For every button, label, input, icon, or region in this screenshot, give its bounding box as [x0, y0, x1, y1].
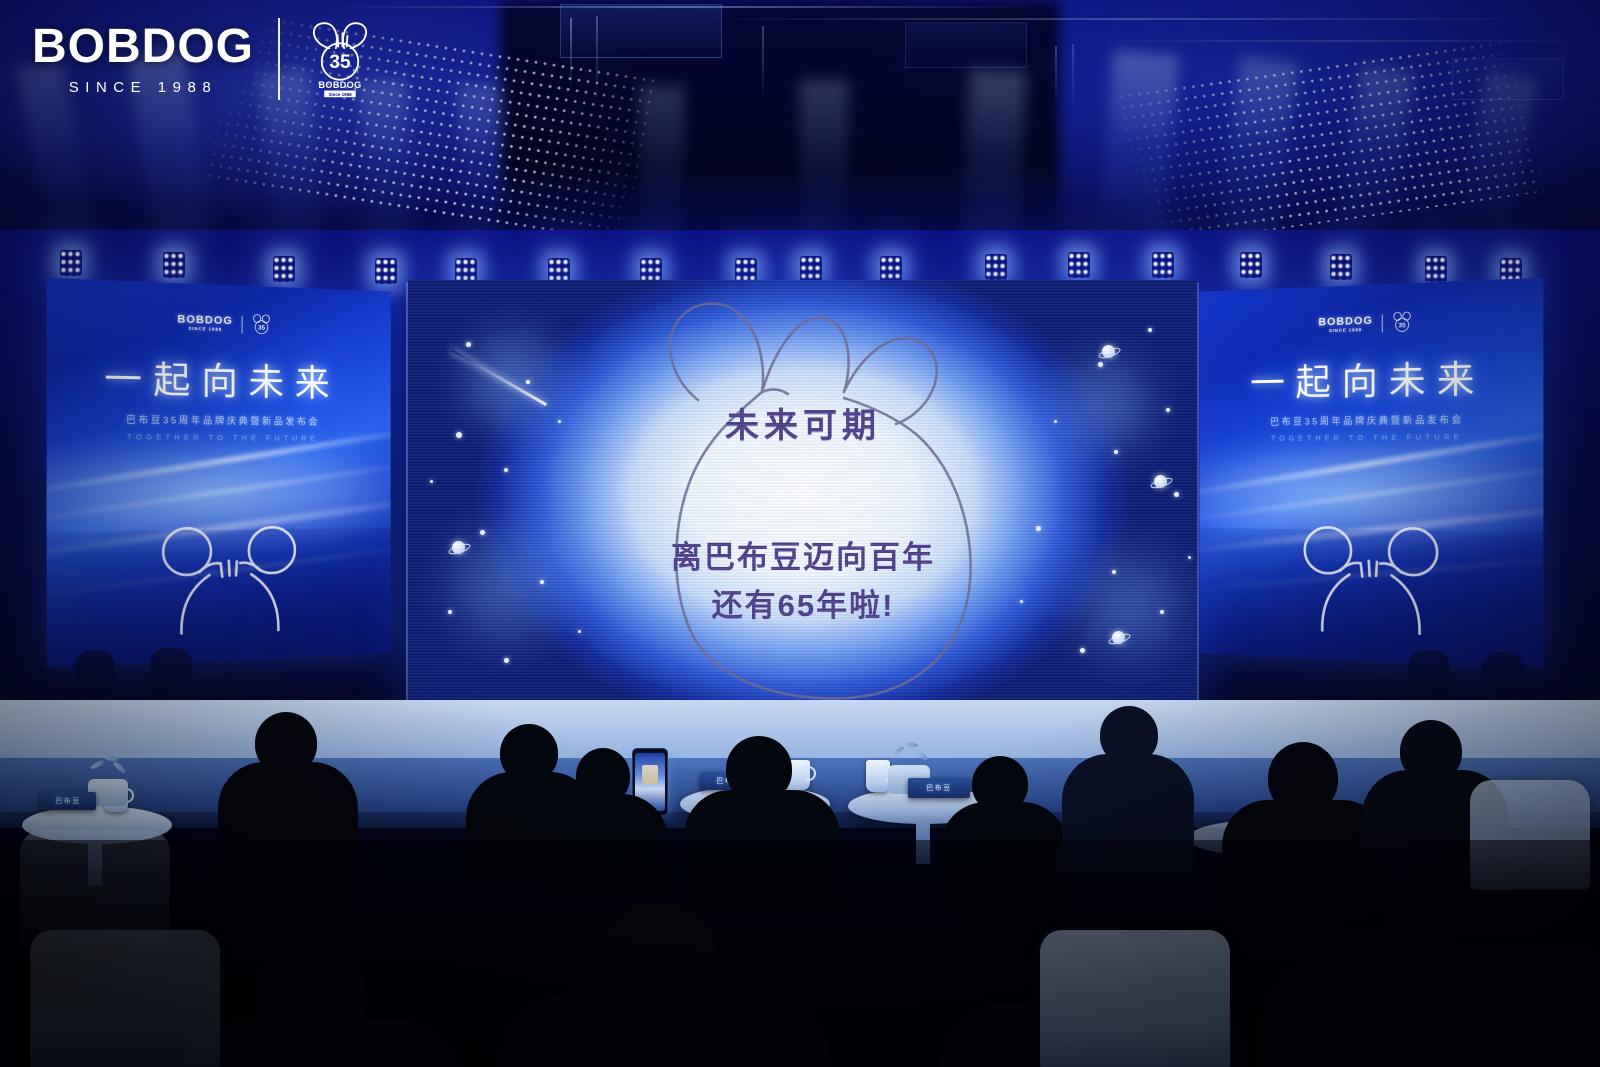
name-card-text: 巴布豆 — [40, 796, 96, 806]
light-beam — [960, 69, 1026, 270]
screen-subtitle-cn-left: 巴布豆35周年品牌庆典暨新品发布会 — [47, 411, 391, 429]
bobdog-wordmark-text: BOBDOG — [32, 23, 254, 71]
brand-watermark: BOBDOG SINCE 1988 35 th BOBDOG Since 198… — [32, 18, 376, 100]
screen-logo-since: SINCE 1988 — [1318, 328, 1373, 334]
anniversary-35-icon: 35 — [251, 314, 271, 336]
screen-logo-since: SINCE 1988 — [177, 326, 233, 332]
center-screen-line1: 离巴布豆迈向百年 — [408, 532, 1198, 577]
ceiling-rail — [1090, 40, 1600, 42]
stage-light-fixture — [880, 256, 902, 282]
foreground-body-silhouette — [180, 1020, 460, 1067]
ceiling-truss — [762, 26, 764, 100]
svg-text:th: th — [353, 68, 359, 75]
bobdog-mascot-outline — [148, 524, 310, 641]
bobdog-wordmark: BOBDOG SINCE 1988 — [32, 23, 254, 95]
stage-light-fixture — [800, 256, 822, 282]
name-card-text: 巴布豆 — [908, 783, 970, 793]
stage-chair-silhouette — [150, 648, 192, 708]
stage-light-fixture — [60, 250, 82, 276]
water-cup — [866, 760, 890, 792]
stage-light-fixture — [163, 252, 185, 278]
center-screen-headline: 未来可期 — [408, 398, 1198, 447]
guest-chair — [1040, 930, 1230, 1067]
stage-light-fixture — [1068, 252, 1090, 278]
light-beam — [458, 83, 508, 264]
center-screen-line2: 还有65年啦! — [408, 580, 1198, 625]
anniversary-35-icon: 35 — [1392, 311, 1413, 334]
right-led-screen: BOBDOG SINCE 1988 35 一起向未来 巴布豆35周年品牌庆典暨新… — [1199, 278, 1543, 667]
svg-text:BOBDOG: BOBDOG — [319, 80, 362, 90]
light-beam — [640, 86, 684, 264]
ceiling-truss — [1072, 44, 1074, 110]
anniversary-35-badge-icon: 35 th BOBDOG Since 1988 — [304, 20, 376, 98]
ceiling-rail — [700, 18, 1560, 20]
foreground-body-silhouette — [500, 994, 830, 1067]
event-stage-photo: BOBDOG SINCE 1988 35 一起向未来 巴布豆35周年品牌庆典暨新… — [0, 0, 1600, 1067]
table-name-card: 巴布豆 — [40, 792, 96, 810]
stage-light-fixture — [1330, 254, 1352, 280]
stage-light-fixture — [1425, 256, 1447, 282]
stage-light-fixture — [375, 258, 397, 284]
screen-seam — [1197, 282, 1199, 710]
logo-divider — [242, 316, 243, 334]
screen-logo-wordmark: BOBDOG — [1318, 315, 1373, 328]
table-name-card: 巴布豆 — [908, 778, 970, 798]
center-led-screen: 未来可期 离巴布豆迈向百年 还有65年啦! — [408, 280, 1198, 710]
left-led-screen: BOBDOG SINCE 1988 35 一起向未来 巴布豆35周年品牌庆典暨新… — [47, 278, 391, 667]
screen-title-left: 一起向未来 — [47, 346, 391, 407]
svg-text:35: 35 — [1399, 322, 1407, 329]
guest-chair — [30, 930, 220, 1067]
screen-seam — [406, 282, 408, 710]
ceiling-rail — [330, 6, 1030, 8]
svg-text:35: 35 — [329, 52, 351, 73]
ceiling-vent-panel — [560, 4, 722, 58]
center-dog-outline — [586, 288, 1016, 708]
screen-bobdog-logo: BOBDOG SINCE 1988 35 — [1199, 307, 1543, 340]
stage-light-fixture — [273, 256, 295, 282]
ceiling-vent-panel — [905, 22, 1027, 68]
svg-text:Since 1988: Since 1988 — [328, 92, 352, 97]
stage-light-fixture — [985, 254, 1007, 280]
bobdog-mascot-outline — [1291, 524, 1453, 641]
logo-divider — [1382, 314, 1383, 332]
stage-light-fixture — [1240, 252, 1262, 278]
screen-bobdog-logo: BOBDOG SINCE 1988 35 — [47, 307, 391, 340]
screen-subtitle-cn-right: 巴布豆35周年品牌庆典暨新品发布会 — [1199, 411, 1543, 429]
stage-light-fixture — [1152, 252, 1174, 278]
screen-logo-wordmark: BOBDOG — [177, 314, 233, 327]
light-beam — [800, 80, 848, 266]
screen-title-right: 一起向未来 — [1199, 346, 1543, 407]
brand-divider — [278, 18, 280, 100]
foreground-body-silhouette — [1260, 946, 1600, 1067]
ceiling-truss — [1055, 46, 1057, 106]
bobdog-since-text: SINCE 1988 — [32, 80, 254, 95]
svg-text:35: 35 — [258, 325, 265, 332]
